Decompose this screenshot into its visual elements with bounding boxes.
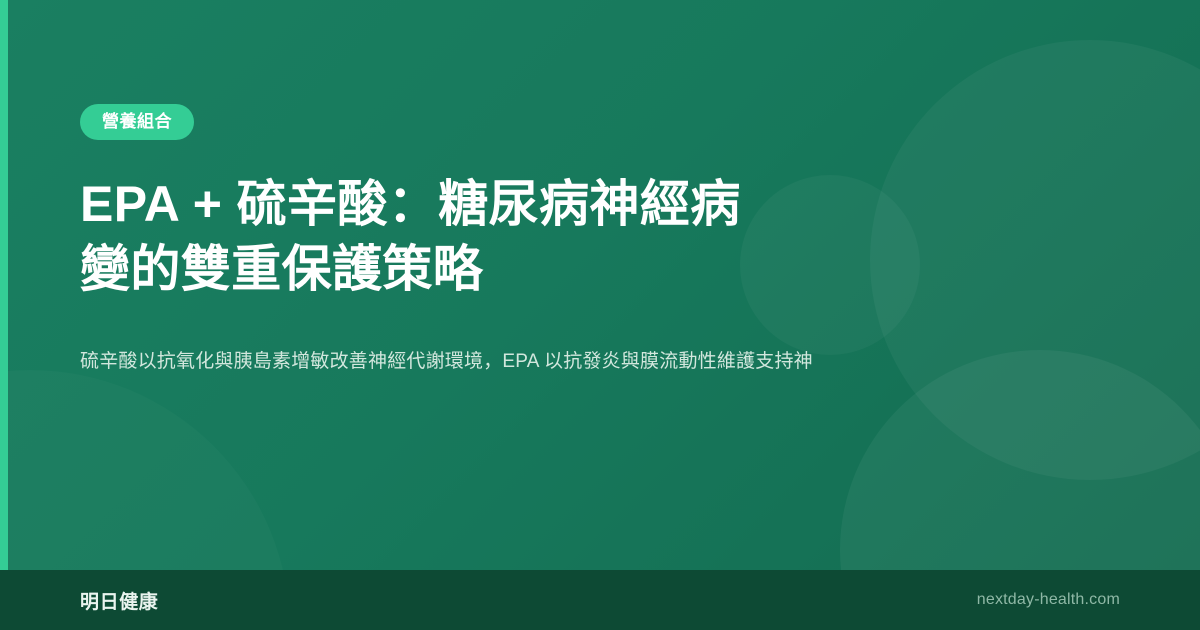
left-accent-stripe [0,0,8,630]
footer: 明日健康 nextday-health.com [0,570,1200,630]
page-subtitle: 硫辛酸以抗氧化與胰島素增敏改善神經代謝環境，EPA 以抗發炎與膜流動性維護支持神 [80,346,1080,378]
footer-domain: nextday-health.com [977,591,1120,609]
page-title: EPA + 硫辛酸：糖尿病神經病變的雙重保護策略 [80,172,780,302]
footer-brand-name: 明日健康 [80,587,158,614]
social-share-card: 營養組合 EPA + 硫辛酸：糖尿病神經病變的雙重保護策略 硫辛酸以抗氧化與胰島… [0,0,1200,630]
card-content: 營養組合 EPA + 硫辛酸：糖尿病神經病變的雙重保護策略 硫辛酸以抗氧化與胰島… [80,104,1120,378]
category-badge: 營養組合 [80,104,194,140]
